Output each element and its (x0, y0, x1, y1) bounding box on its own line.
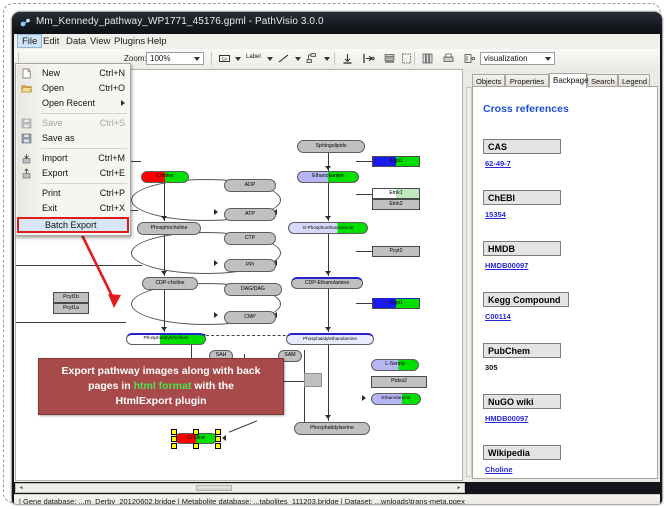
selection-handle[interactable] (215, 436, 221, 442)
align-top-button[interactable] (341, 52, 354, 65)
menu-item-batch-export[interactable]: Batch Export (17, 217, 129, 233)
window-title-bar: Mm_Kennedy_pathway_WP1771_45176.gpml - P… (12, 12, 662, 34)
pathway-node-ppi[interactable]: PPi (224, 259, 276, 272)
menu-item-export-accel: Ctrl+E (100, 166, 125, 181)
pathway-node-anchor[interactable] (304, 373, 322, 387)
menu-separator (41, 148, 127, 149)
pathvisio-app-icon (19, 17, 31, 29)
stack-vertical-button[interactable] (383, 52, 396, 65)
backpage-title: Cross references (483, 103, 569, 115)
pathway-node-cdp-choline[interactable]: CDP-choline (142, 277, 198, 290)
menu-item-print-accel: Ctrl+P (100, 186, 125, 201)
pathway-node-atp[interactable]: ATP (224, 208, 276, 221)
menu-item-save-accel: Ctrl+S (100, 116, 125, 131)
arrowhead-icon (161, 271, 167, 275)
chevron-down-icon (194, 57, 200, 61)
menu-item-exit-label: Exit (42, 203, 57, 213)
menu-item-open-label: Open (42, 83, 64, 93)
menu-item-save-as-label: Save as (42, 133, 75, 143)
line-tool-button[interactable] (277, 52, 290, 65)
arrowhead-icon (325, 216, 331, 220)
save-disk-icon (21, 118, 32, 129)
pathway-gene-etnk2[interactable]: Etnk2 (372, 199, 420, 210)
scroll-left-icon[interactable]: ◄ (17, 485, 25, 491)
edge (328, 345, 329, 421)
line-icon (277, 52, 290, 65)
callout-line1: Export pathway images along with back (62, 365, 261, 377)
arrowhead-icon (214, 312, 218, 318)
arrowhead-icon (325, 327, 331, 331)
pathway-node-ethanolamine-2[interactable]: Ethanolamine (371, 393, 421, 405)
sidepanel-toggle-button[interactable] (463, 52, 476, 65)
menu-item-exit[interactable]: Exit Ctrl+X (16, 201, 130, 216)
xref-value-kegg[interactable]: C00114 (485, 312, 511, 321)
menu-item-open[interactable]: Open Ctrl+O (16, 81, 130, 96)
pathway-node-o-phosphoethanolamine[interactable]: O-Phosphoethanolamine (288, 222, 368, 234)
xref-value-pubchem: 305 (485, 363, 498, 372)
line-dropdown-icon[interactable] (295, 57, 301, 61)
align-left-icon (362, 52, 375, 65)
edge (229, 420, 257, 432)
datanode-tool-button[interactable]: Gn (218, 52, 231, 65)
pathway-gene-pcyt1a[interactable]: Pcyt1a (53, 303, 89, 314)
interaction-tool-button[interactable] (305, 52, 318, 65)
menu-item-save-label: Save (42, 118, 63, 128)
interaction-dropdown-icon[interactable] (324, 57, 330, 61)
label-dropdown-icon[interactable] (267, 57, 273, 61)
pathway-node-l-serine[interactable]: L-Serine (371, 359, 419, 371)
datanode-dropdown-icon[interactable] (235, 57, 241, 61)
selection-handle[interactable] (193, 443, 199, 449)
menu-item-batch-export-label: Batch Export (45, 220, 97, 230)
columns-button[interactable] (421, 52, 434, 65)
edge (328, 234, 329, 276)
pathway-node-cmp[interactable]: CMP (224, 311, 276, 324)
xref-header-kegg: Kegg Compound (483, 292, 569, 307)
pathway-node-ethanolamine[interactable]: Ethanolamine (297, 171, 359, 183)
menu-item-new-accel: Ctrl+N (99, 66, 125, 81)
stack-vertical-icon (383, 52, 396, 65)
chevron-right-icon (121, 100, 125, 106)
arrowhead-icon (214, 209, 218, 215)
pathway-node-phosphatidylcholines[interactable]: Phosphatidylcholines (126, 333, 206, 345)
file-menu-popup[interactable]: New Ctrl+N Open Ctrl+O Open Recent (15, 63, 131, 236)
menu-item-export-label: Export (42, 168, 68, 178)
edge-dashed (206, 335, 296, 337)
save-as-icon (21, 133, 32, 144)
arrowhead-icon (325, 415, 331, 419)
xref-header-cas: CAS (483, 139, 561, 154)
toolbar-separator (414, 52, 415, 65)
zoom-label: Zoom: (124, 54, 147, 63)
visualization-value: visualization (484, 54, 528, 63)
selection-handle[interactable] (171, 443, 177, 449)
selection-handle[interactable] (171, 436, 177, 442)
edge (164, 290, 165, 332)
xref-header-pubchem: PubChem (483, 343, 561, 358)
arrowhead-icon (325, 271, 331, 275)
screenshot-root: Mm_Kennedy_pathway_WP1771_45176.gpml - P… (0, 0, 670, 509)
import-icon (21, 153, 32, 164)
print-button[interactable] (442, 52, 455, 65)
selection-handle[interactable] (215, 429, 221, 435)
pathway-node-phosphocholine[interactable]: Phosphocholine (137, 222, 201, 235)
tab-backpage[interactable]: Backpage (549, 73, 587, 88)
pathway-node-phosphatidylethanolamine[interactable]: Phosphatidylethanolamine (286, 333, 374, 345)
pathway-gene-ptdss2[interactable]: Ptdss2 (371, 376, 427, 388)
group-icon (400, 52, 413, 65)
menu-item-export[interactable]: Export Ctrl+E (16, 166, 130, 181)
menu-item-new-label: New (42, 68, 60, 78)
menu-item-save: Save Ctrl+S (16, 116, 130, 131)
edge (191, 345, 192, 359)
callout-line3: HtmlExport plugin (116, 395, 207, 407)
pathway-node-cdp-ethanolamine[interactable]: CDP-Ethanolamine (291, 277, 363, 289)
menu-bar: File Edit Data View Plugins Help (14, 34, 660, 50)
xref-value-wikipedia[interactable]: Choline (485, 465, 513, 474)
xref-header-wikipedia: Wikipedia (483, 445, 561, 460)
toolbar-separator (211, 52, 212, 65)
xref-value-cas[interactable]: 62-49-7 (485, 159, 511, 168)
pathway-node-adp[interactable]: ADP (224, 179, 276, 192)
menu-item-print[interactable]: Print Ctrl+P (16, 186, 130, 201)
edge (328, 289, 329, 332)
columns-icon (421, 52, 434, 65)
svg-text:Gn: Gn (221, 56, 228, 61)
align-left-button[interactable] (362, 52, 375, 65)
edge (164, 235, 165, 276)
screenshot-frame: Mm_Kennedy_pathway_WP1771_45176.gpml - P… (3, 3, 661, 503)
pathway-node-sphingolipids[interactable]: Sphingolipids (297, 140, 365, 153)
window-title-text: Mm_Kennedy_pathway_WP1771_45176.gpml - P… (36, 16, 324, 27)
callout-line2-a: pages in (88, 380, 134, 392)
pathway-node-dag[interactable]: DAG/DAG (224, 283, 282, 296)
pathway-node-choline[interactable]: Choline (141, 171, 189, 183)
annotation-callout: Export pathway images along with back pa… (38, 358, 284, 415)
label-tool-label[interactable]: Label (246, 54, 261, 60)
menu-separator (41, 183, 127, 184)
arrowhead-icon (362, 395, 366, 401)
side-panel-tab-strip: Objects Properties Backpage Search Legen… (472, 73, 658, 87)
pathway-gene-pcyt2[interactable]: Pcyt2 (372, 246, 420, 257)
xref-value-nugo[interactable]: HMDB00097 (485, 414, 528, 423)
new-file-icon (21, 68, 32, 79)
zoom-value: 100% (150, 54, 170, 63)
menu-item-open-recent[interactable]: Open Recent (16, 96, 130, 111)
menu-help[interactable]: Help (143, 35, 171, 48)
print-icon (442, 52, 455, 65)
export-icon (21, 168, 32, 179)
status-bar: | Gene database: ...m_Derby_20120602.bri… (14, 494, 660, 504)
callout-line2-b: with the (191, 380, 234, 392)
menu-item-import[interactable]: Import Ctrl+M (16, 151, 130, 166)
arrowhead-icon (161, 327, 167, 331)
selection-handle[interactable] (171, 429, 177, 435)
pathway-gene-etnk1[interactable]: Etnk1 (372, 188, 420, 199)
xref-value-chebi[interactable]: 15354 (485, 210, 506, 219)
xref-header-nugo: NuGO wiki (483, 394, 561, 409)
scroll-right-icon[interactable]: ► (455, 485, 463, 491)
menu-item-open-recent-label: Open Recent (42, 98, 95, 108)
menu-edit[interactable]: Edit (39, 35, 63, 48)
open-folder-icon (21, 83, 32, 94)
backpage-panel: Cross references CAS 62-49-7 ChEBI 15354… (472, 86, 658, 479)
arrowhead-icon (325, 166, 331, 170)
menu-separator (41, 113, 127, 114)
pathway-node-phosphatidylserine[interactable]: Phosphatidylserine (294, 422, 370, 435)
zoom-combobox[interactable]: 100% (146, 52, 204, 65)
xref-header-chebi: ChEBI (483, 190, 561, 205)
callout-line2-highlight: html format (134, 380, 192, 392)
pathway-gene-cept1[interactable]: Cept1 (372, 298, 420, 309)
xref-value-hmdb[interactable]: HMDB00097 (485, 261, 528, 270)
chevron-down-icon (545, 57, 551, 61)
canvas-horizontal-scrollbar[interactable]: ◄ ► (15, 483, 465, 493)
xref-header-hmdb: HMDB (483, 241, 561, 256)
align-top-icon (341, 52, 354, 65)
status-bar-text: | Gene database: ...m_Derby_20120602.bri… (19, 497, 465, 504)
menu-item-import-label: Import (42, 153, 68, 163)
pathway-gene-sgpl1[interactable]: Sgpl1 (372, 156, 420, 167)
menu-item-exit-accel: Ctrl+X (100, 201, 125, 216)
edge (16, 322, 126, 323)
interaction-icon (305, 52, 318, 65)
menu-item-new[interactable]: New Ctrl+N (16, 66, 130, 81)
selection-handle[interactable] (193, 429, 199, 435)
arrowhead-icon (161, 216, 167, 220)
side-panel: Objects Properties Backpage Search Legen… (466, 69, 659, 481)
menu-item-import-accel: Ctrl+M (98, 151, 125, 166)
group-button[interactable] (400, 52, 413, 65)
menu-item-print-label: Print (42, 188, 61, 198)
pathway-gene-pcyt1b[interactable]: Pcyt1b (53, 292, 89, 303)
sidepanel-toggle-icon (463, 52, 476, 65)
datanode-icon: Gn (218, 52, 231, 65)
visualization-combobox[interactable]: visualization (480, 52, 555, 65)
menu-item-save-as[interactable]: Save as (16, 131, 130, 146)
arrowhead-icon (222, 435, 226, 441)
pathway-node-ctp[interactable]: CTP (224, 232, 276, 245)
pathvisio-application-window: Mm_Kennedy_pathway_WP1771_45176.gpml - P… (12, 12, 662, 504)
edge (16, 265, 142, 266)
menu-item-open-accel: Ctrl+O (99, 81, 125, 96)
arrowhead-icon (214, 260, 218, 266)
selection-handle[interactable] (215, 443, 221, 449)
toolbar-separator (334, 52, 335, 65)
scrollbar-thumb[interactable] (196, 485, 232, 491)
